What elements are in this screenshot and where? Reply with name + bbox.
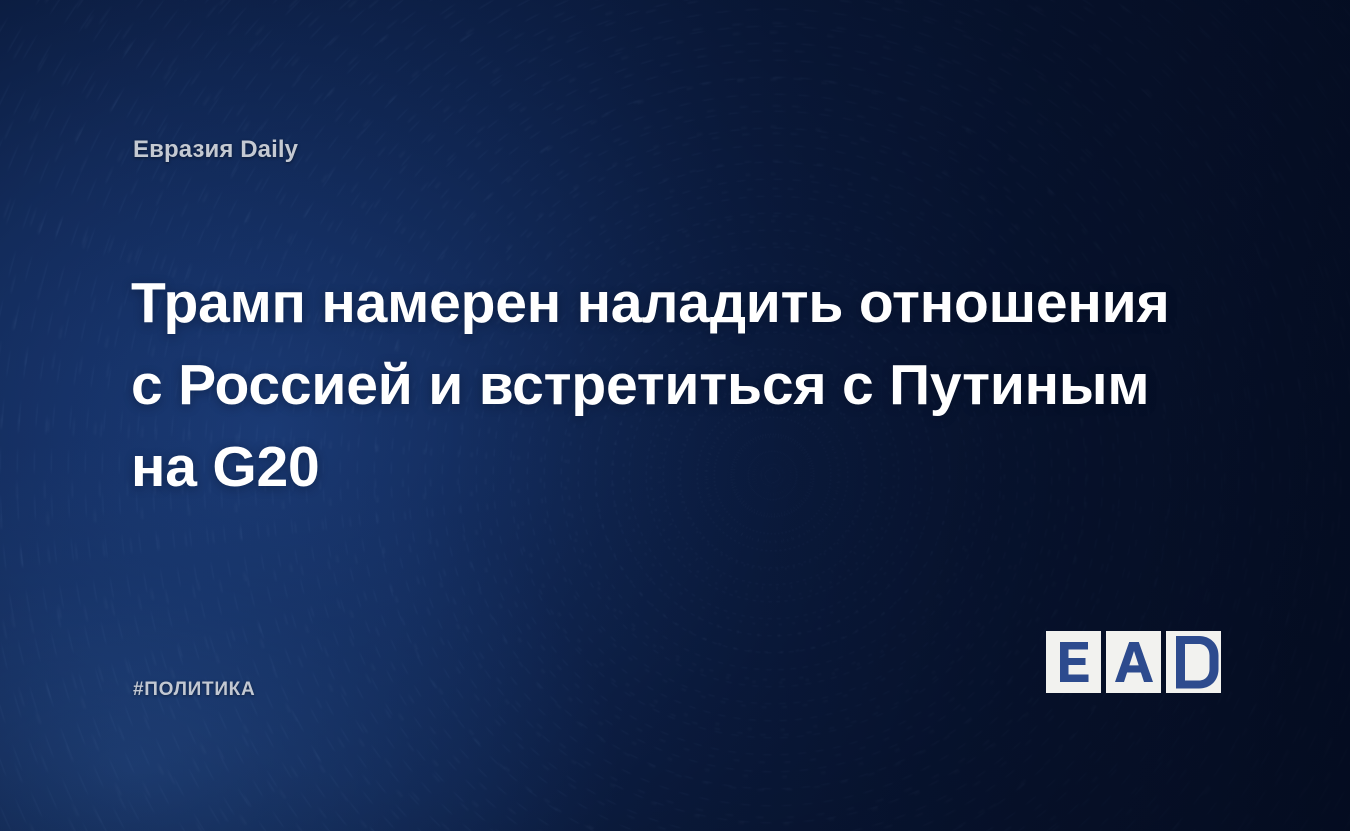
letter-d-top-icon [1166, 631, 1236, 662]
brand-label: Евразия Daily [133, 136, 298, 164]
card-content: Евразия Daily Трамп намерен наладить отн… [0, 0, 1350, 831]
headline-line-3: на G20 [131, 426, 1181, 508]
letter-d-bottom-icon [1166, 662, 1236, 693]
logo-tile-a [1106, 631, 1161, 693]
letter-e-icon [1057, 642, 1091, 682]
logo-tile-e [1046, 631, 1101, 693]
news-card: Евразия Daily Трамп намерен наладить отн… [0, 0, 1350, 831]
category-tag[interactable]: #ПОЛИТИКА [133, 679, 255, 701]
page-title: Трамп намерен наладить отношения с Росси… [131, 262, 1181, 508]
letter-a-icon [1115, 642, 1153, 682]
ead-logo[interactable] [1046, 631, 1221, 693]
logo-tile-d [1166, 631, 1221, 693]
headline-line-1: Трамп намерен наладить отношения [131, 262, 1181, 344]
headline-line-2: с Россией и встретиться с Путиным [131, 344, 1181, 426]
